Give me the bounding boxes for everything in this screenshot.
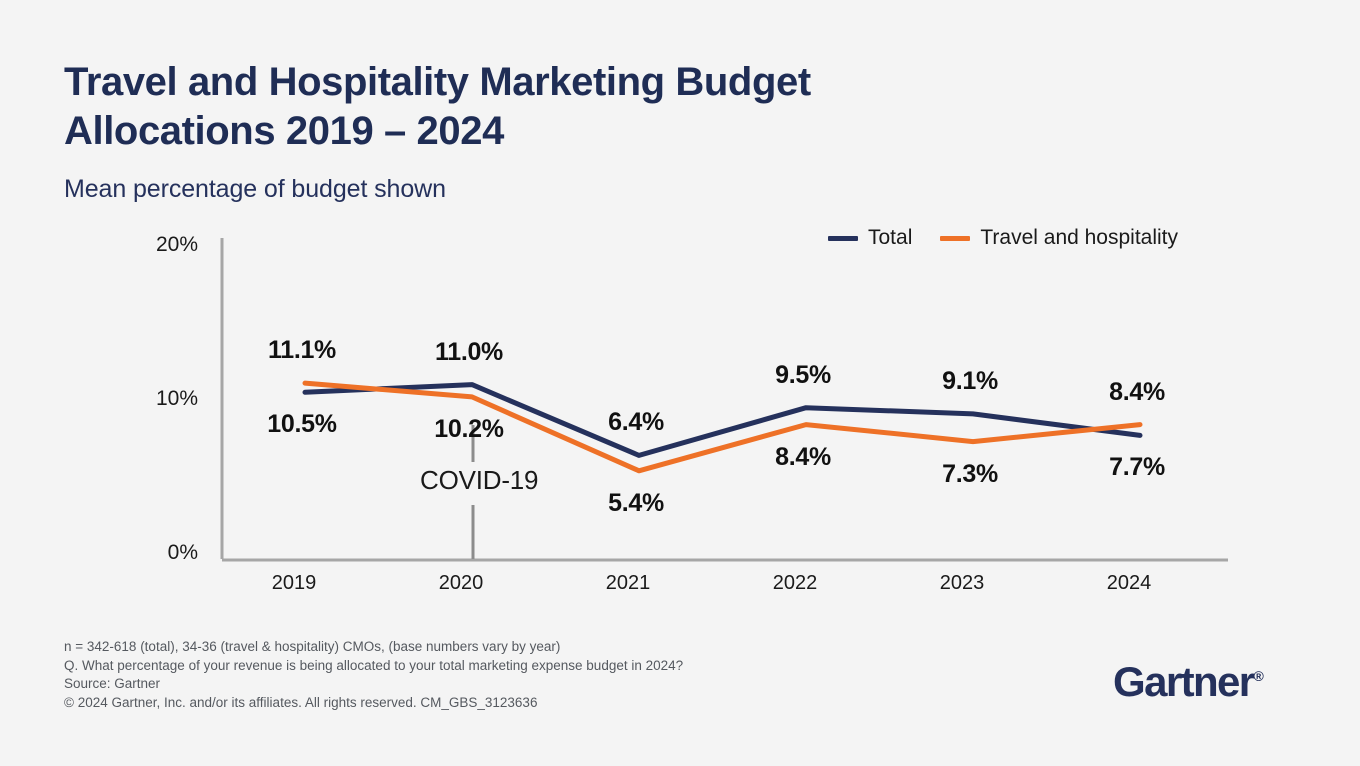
data-point-label: 9.5% <box>733 361 873 390</box>
y-tick-label: 0% <box>118 541 198 565</box>
legend-label-travel-and-hospitality: Travel and hospitality <box>980 226 1178 250</box>
data-point-label: 6.4% <box>566 408 706 437</box>
footnote-sample-size: n = 342-618 (total), 34-36 (travel & hos… <box>64 638 683 657</box>
gartner-logo: Gartner® <box>1113 658 1264 706</box>
page-subtitle: Mean percentage of budget shown <box>64 175 446 204</box>
footnotes: n = 342-618 (total), 34-36 (travel & hos… <box>64 638 683 712</box>
x-tick-label: 2022 <box>735 572 855 595</box>
x-tick-label: 2020 <box>401 572 521 595</box>
footnote-source: Source: Gartner <box>64 675 683 694</box>
x-tick-label: 2024 <box>1069 572 1189 595</box>
y-tick-label: 20% <box>118 233 198 257</box>
registered-trademark-icon: ® <box>1254 668 1264 684</box>
data-point-label: 7.3% <box>900 460 1040 489</box>
data-point-label: 8.4% <box>1067 378 1207 407</box>
covid-19-annotation: COVID-19 <box>411 463 547 498</box>
data-point-label: 11.0% <box>399 338 539 367</box>
data-point-label: 8.4% <box>733 443 873 472</box>
data-point-label: 10.5% <box>232 410 372 439</box>
x-tick-label: 2021 <box>568 572 688 595</box>
x-tick-label: 2019 <box>234 572 354 595</box>
chart-legend: Total Travel and hospitality <box>828 226 1178 250</box>
legend-item-total[interactable]: Total <box>828 226 912 250</box>
x-tick-label: 2023 <box>902 572 1022 595</box>
data-point-label: 5.4% <box>566 489 706 518</box>
y-tick-label: 10% <box>118 387 198 411</box>
legend-label-total: Total <box>868 226 912 250</box>
legend-swatch-travel-and-hospitality <box>940 236 970 241</box>
data-point-label: 10.2% <box>399 415 539 444</box>
data-point-label: 7.7% <box>1067 453 1207 482</box>
page-title: Travel and Hospitality Marketing Budget … <box>64 58 1064 156</box>
legend-item-travel-and-hospitality[interactable]: Travel and hospitality <box>940 226 1178 250</box>
footnote-question: Q. What percentage of your revenue is be… <box>64 657 683 676</box>
data-point-label: 9.1% <box>900 367 1040 396</box>
data-point-label: 11.1% <box>232 336 372 365</box>
gartner-logo-text: Gartner <box>1113 658 1254 705</box>
footnote-copyright: © 2024 Gartner, Inc. and/or its affiliat… <box>64 694 683 713</box>
legend-swatch-total <box>828 236 858 241</box>
chart-page: Travel and Hospitality Marketing Budget … <box>0 0 1360 766</box>
